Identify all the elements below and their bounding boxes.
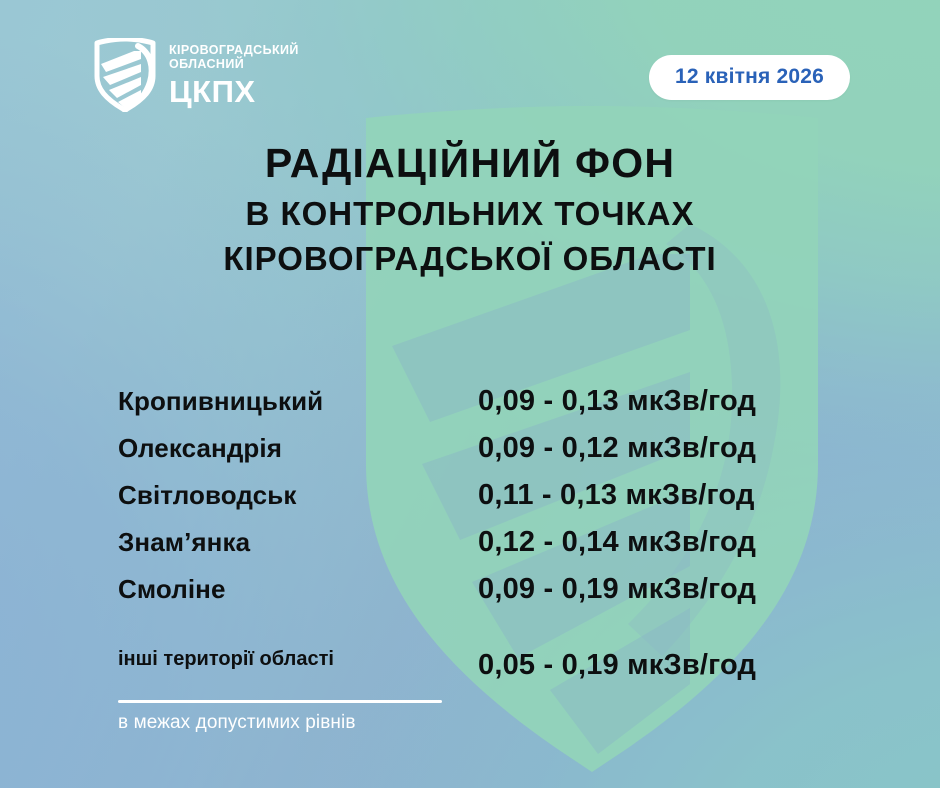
measurement-value: 0,12 - 0,14 мкЗв/год — [478, 526, 756, 559]
measurement-value: 0,09 - 0,12 мкЗв/год — [478, 432, 756, 465]
measurement-row: Знам’янка 0,12 - 0,14 мкЗв/год — [118, 526, 878, 573]
brand-line-2: ОБЛАСНИЙ — [169, 58, 299, 71]
date-badge: 12 квітня 2026 — [649, 55, 850, 100]
measurement-value: 0,09 - 0,19 мкЗв/год — [478, 573, 756, 606]
measurement-row: Кропивницький 0,09 - 0,13 мкЗв/год — [118, 385, 878, 432]
measurement-place: Кропивницький — [118, 386, 478, 417]
radiation-background-poster: КІРОВОГРАДСЬКИЙ ОБЛАСНИЙ ЦКПХ 12 квітня … — [0, 0, 940, 788]
measurement-value: 0,11 - 0,13 мкЗв/год — [478, 479, 755, 512]
measurement-row: Смоліне 0,09 - 0,19 мкЗв/год — [118, 573, 878, 620]
title-line-3: КІРОВОГРАДСЬКОЇ ОБЛАСТІ — [0, 242, 940, 277]
measurement-place: Знам’янка — [118, 527, 478, 558]
measurement-value: 0,09 - 0,13 мкЗв/год — [478, 385, 756, 418]
footer-note-block: в межах допустимих рівнів — [118, 700, 442, 734]
measurement-list: Кропивницький 0,09 - 0,13 мкЗв/год Олекс… — [118, 385, 878, 620]
measurement-place: Світловодськ — [118, 480, 478, 511]
brand-wordmark: КІРОВОГРАДСЬКИЙ ОБЛАСНИЙ ЦКПХ — [169, 44, 299, 107]
footer-note: в межах допустимих рівнів — [118, 712, 442, 734]
brand-abbreviation: ЦКПХ — [169, 76, 299, 107]
measurement-value: 0,05 - 0,19 мкЗв/год — [478, 649, 756, 682]
title-line-1: РАДІАЦІЙНИЙ ФОН — [0, 142, 940, 185]
measurement-row: Світловодськ 0,11 - 0,13 мкЗв/год — [118, 479, 878, 526]
shield-logo-icon — [94, 38, 156, 112]
title-line-2: В КОНТРОЛЬНИХ ТОЧКАХ — [0, 197, 940, 232]
measurement-place: Смоліне — [118, 574, 478, 605]
brand-line-1: КІРОВОГРАДСЬКИЙ — [169, 44, 299, 57]
brand-logo: КІРОВОГРАДСЬКИЙ ОБЛАСНИЙ ЦКПХ — [94, 38, 299, 112]
page-title: РАДІАЦІЙНИЙ ФОН В КОНТРОЛЬНИХ ТОЧКАХ КІР… — [0, 142, 940, 277]
measurement-place: Олександрія — [118, 433, 478, 464]
measurement-place: інші території області — [118, 648, 478, 671]
measurement-row-other-territories: інші території області 0,05 - 0,19 мкЗв/… — [118, 640, 878, 673]
footer-divider — [118, 700, 442, 703]
measurement-row: Олександрія 0,09 - 0,12 мкЗв/год — [118, 432, 878, 479]
